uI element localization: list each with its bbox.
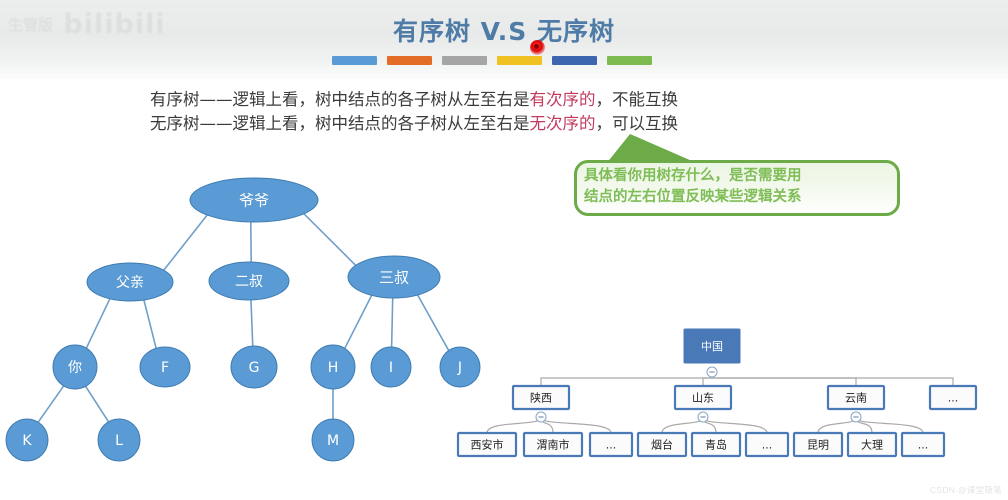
org-collapse-button-1[interactable] (536, 412, 546, 422)
org-connector-云南-2 (856, 418, 923, 433)
slide-canvas: 生管版 bilibili 有序树 V.S 无序树 有序树——逻辑上看，树中结点的… (0, 0, 1008, 500)
org-connector-root-3 (712, 373, 953, 386)
org-box-label-l2-0: 陕西 (530, 391, 552, 405)
org-collapse-button-3[interactable] (851, 412, 861, 422)
org-box-label-l2-3: ... (948, 392, 959, 405)
china-org-chart: 中国陕西山东云南...西安市渭南市...烟台青岛...昆明大理... (0, 0, 1008, 500)
org-box-l3-0[interactable]: 西安市 (458, 433, 516, 456)
org-box-label-root-0: 中国 (701, 340, 723, 353)
org-box-label-l2-2: 云南 (845, 392, 867, 405)
org-box-l2-2[interactable]: 云南 (828, 386, 884, 409)
org-box-l3-8[interactable]: ... (902, 433, 944, 456)
org-box-label-l3-8: ... (918, 439, 929, 452)
org-connector-陕西-2 (541, 418, 611, 433)
org-connector-云南-0 (818, 418, 856, 433)
org-box-l3-5[interactable]: ... (746, 433, 788, 456)
org-box-l3-6[interactable]: 昆明 (794, 433, 842, 456)
org-box-l3-3[interactable]: 烟台 (638, 433, 686, 456)
org-box-label-l3-4: 青岛 (705, 438, 727, 452)
org-box-label-l3-1: 渭南市 (537, 438, 570, 452)
org-connector-陕西-0 (487, 418, 541, 433)
org-box-label-l3-5: ... (762, 439, 773, 452)
org-box-l3-2[interactable]: ... (590, 433, 632, 456)
org-box-l2-3[interactable]: ... (930, 386, 976, 409)
org-box-l3-1[interactable]: 渭南市 (524, 433, 582, 456)
org-box-root-0[interactable]: 中国 (684, 329, 740, 363)
org-box-label-l3-3: 烟台 (651, 438, 673, 452)
org-box-label-l3-7: 大理 (861, 438, 883, 452)
org-collapse-button-2[interactable] (698, 412, 708, 422)
csdn-watermark: CSDN @课堂随笔 (930, 484, 1002, 496)
org-connector-root-2 (712, 373, 856, 386)
org-box-label-l3-2: ... (606, 439, 617, 452)
org-box-l2-0[interactable]: 陕西 (513, 386, 569, 409)
org-connector-root-0 (541, 373, 712, 386)
org-box-l3-7[interactable]: 大理 (848, 433, 896, 456)
org-box-label-l3-6: 昆明 (807, 439, 829, 452)
org-box-label-l2-1: 山东 (692, 392, 714, 405)
org-collapse-button-0[interactable] (707, 367, 717, 377)
org-box-l3-4[interactable]: 青岛 (692, 433, 740, 456)
org-connector-山东-0 (662, 418, 703, 433)
org-box-l2-1[interactable]: 山东 (675, 386, 731, 409)
org-box-label-l3-0: 西安市 (471, 438, 504, 452)
